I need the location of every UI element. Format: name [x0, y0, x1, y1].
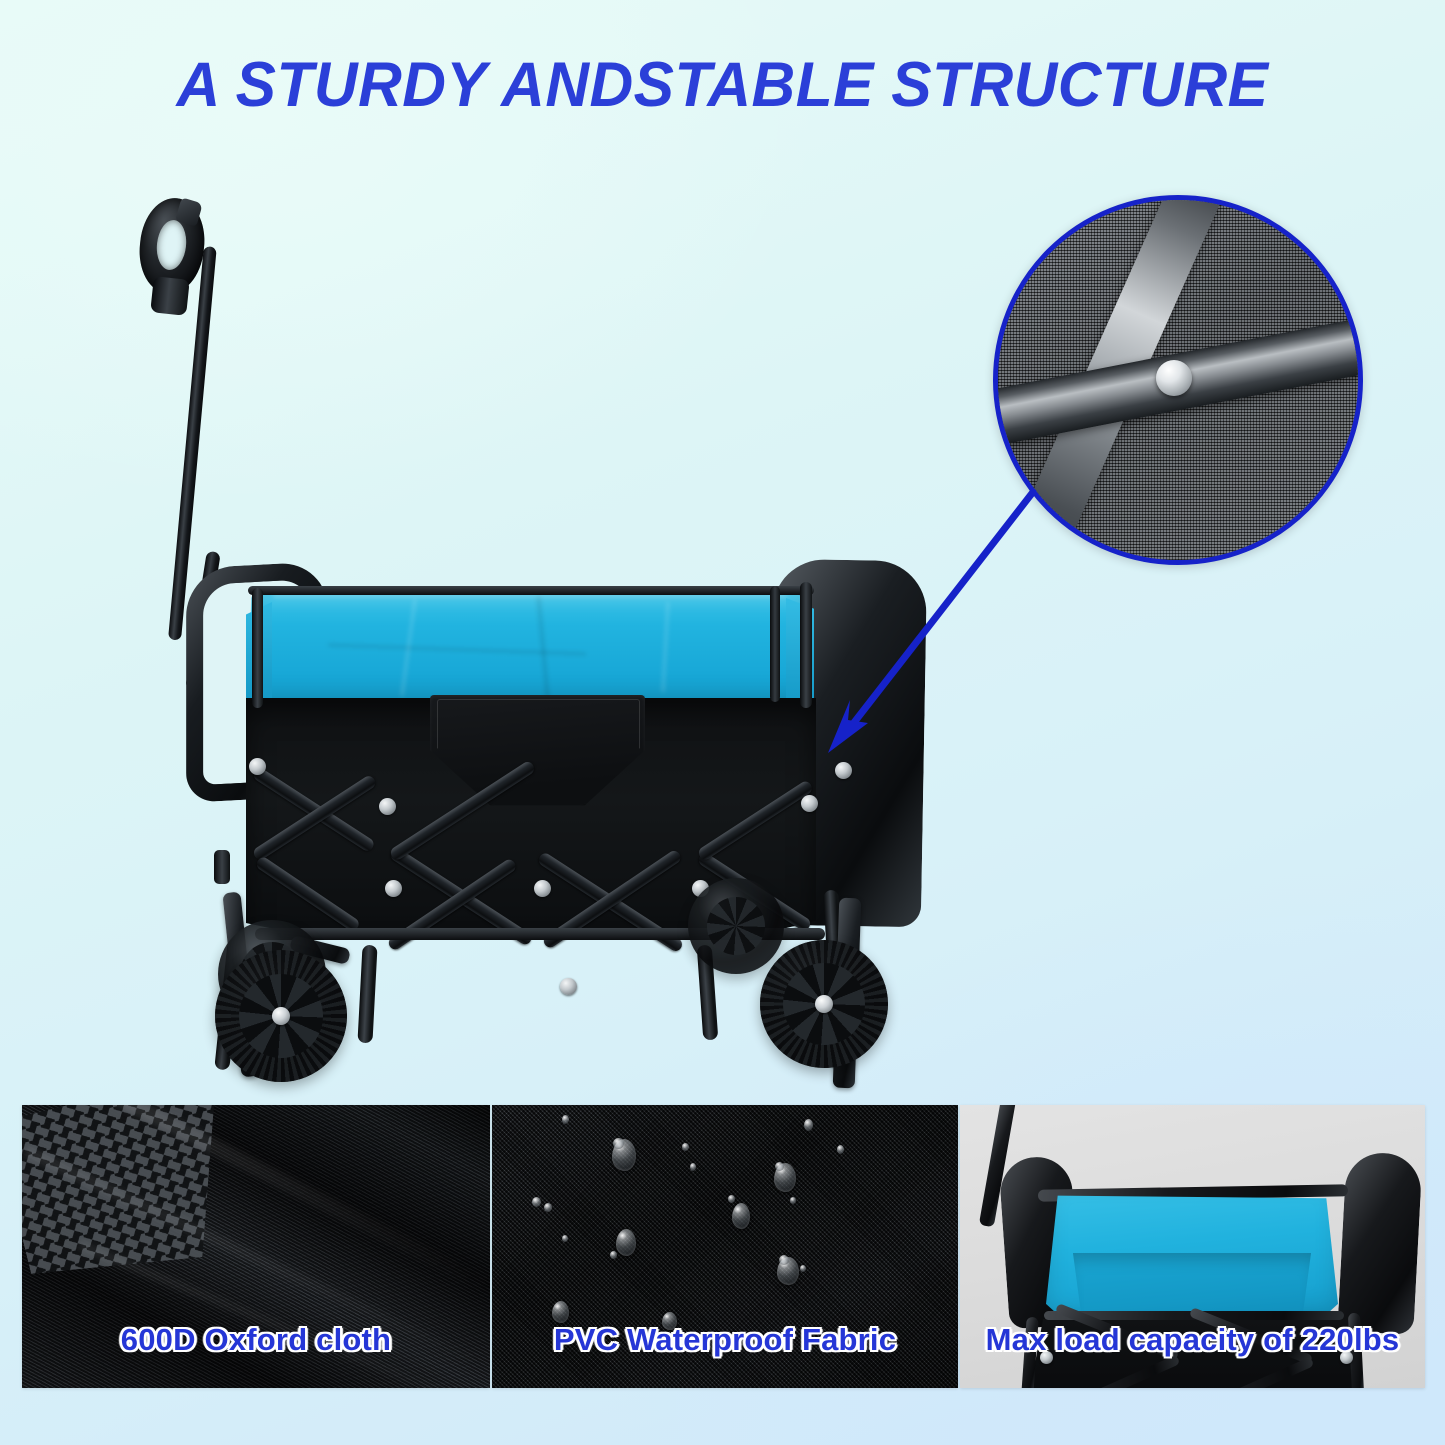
water-droplet-highlight: [613, 1138, 624, 1149]
frame-rivet: [560, 978, 577, 995]
rivet-joint-magnifier: [993, 195, 1363, 565]
mid-leg: [357, 945, 377, 1044]
frame-rivet: [379, 798, 396, 815]
water-droplet-small: [804, 1119, 813, 1131]
panel-caption: 600D Oxford cloth: [22, 1322, 490, 1358]
frame-loop-right: [1337, 1151, 1422, 1335]
water-droplet-small: [790, 1197, 796, 1204]
wheel-front-hubcap: [815, 995, 833, 1013]
feature-panels: 600D Oxford cloth: [0, 1105, 1445, 1390]
panel-oxford-cloth: 600D Oxford cloth: [22, 1105, 490, 1388]
water-droplet-small: [690, 1163, 696, 1171]
water-droplet-small: [837, 1145, 844, 1154]
joint-rivet: [1156, 360, 1192, 396]
frame-rivet: [801, 795, 818, 812]
corner-post-right: [800, 582, 812, 708]
fabric-fold: [328, 643, 586, 655]
water-droplet-small: [728, 1195, 735, 1203]
panel-pvc-waterproof: PVC Waterproof Fabric: [492, 1105, 958, 1388]
water-droplet: [616, 1229, 636, 1256]
frame-rivet: [534, 880, 551, 897]
water-droplet-highlight: [779, 1255, 789, 1265]
fabric-fold: [537, 595, 550, 698]
water-droplet-small: [562, 1115, 569, 1124]
magnifier-circle: [993, 195, 1363, 565]
water-droplet-small: [532, 1197, 541, 1207]
frame-rivet: [249, 758, 266, 775]
panel-load-capacity: Max load capacity of 220lbs: [960, 1105, 1425, 1388]
corner-post-inner-right: [770, 586, 780, 702]
cyan-fabric-liner: [248, 590, 811, 705]
water-droplet-small: [682, 1143, 689, 1151]
water-droplet: [732, 1203, 750, 1229]
water-droplet: [552, 1301, 569, 1323]
water-droplet-highlight: [775, 1162, 784, 1171]
corner-post-left: [252, 588, 263, 708]
frame-rivet: [385, 880, 402, 897]
page-title: A STURDY ANDSTABLE STRUCTURE: [29, 52, 1416, 118]
panel-caption: Max load capacity of 220lbs: [960, 1322, 1425, 1358]
product-hero-image: [0, 150, 1000, 1090]
handle-grip-neck: [150, 276, 190, 316]
infographic-canvas: A STURDY ANDSTABLE STRUCTURE: [0, 0, 1445, 1445]
water-droplet-small: [544, 1203, 552, 1212]
water-droplet-small: [610, 1251, 617, 1259]
panel-caption: PVC Waterproof Fabric: [492, 1322, 958, 1358]
side-latch: [214, 850, 230, 884]
top-rail: [248, 586, 814, 595]
water-droplet-small: [562, 1235, 568, 1242]
wheel-rear-hubcap: [272, 1007, 290, 1025]
frame-rivet: [835, 762, 852, 779]
wheel-front-far-hub: [707, 897, 765, 955]
fabric-fold: [662, 602, 670, 691]
water-droplet-small: [800, 1265, 806, 1272]
